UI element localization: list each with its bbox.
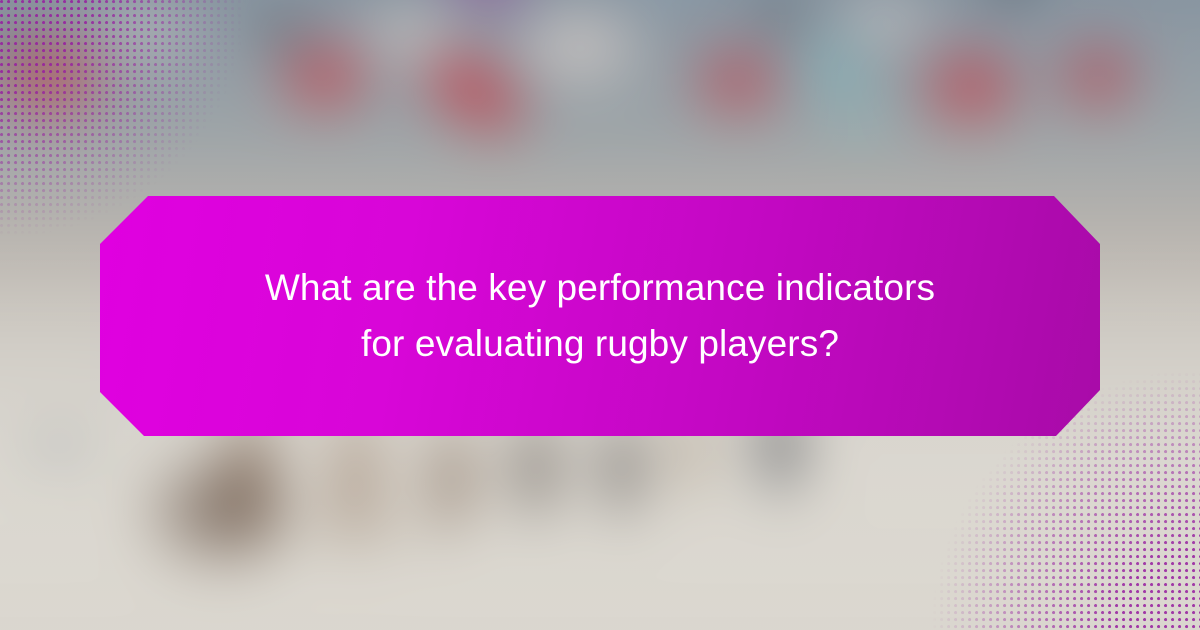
headline-text: What are the key performance indicators … — [220, 260, 980, 372]
social-card: What are the key performance indicators … — [0, 0, 1200, 630]
headline-banner: What are the key performance indicators … — [100, 196, 1100, 436]
